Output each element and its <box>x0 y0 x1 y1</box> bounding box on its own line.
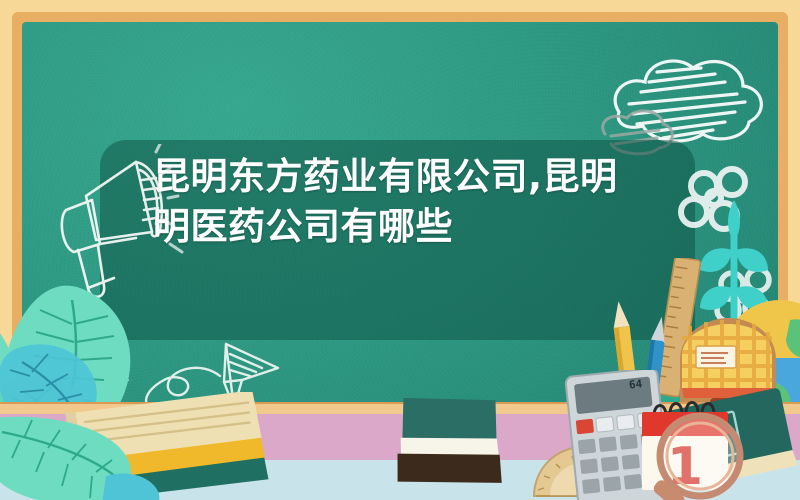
thumbnail-canvas: 昆明东方药业有限公司,昆明 明医药公司有哪些 <box>0 0 800 500</box>
page-title: 昆明东方药业有限公司,昆明 明医药公司有哪些 <box>153 152 653 252</box>
leaf-illustration-bottom-left <box>0 404 190 500</box>
caption-line-1: 昆明东方药业有限公司,昆明 <box>153 152 653 202</box>
magnifying-glass-illustration <box>622 412 752 500</box>
book-illustration-right <box>396 398 526 500</box>
calculator-display: 64 <box>628 377 643 391</box>
caption-line-2: 明医药公司有哪些 <box>153 202 653 252</box>
